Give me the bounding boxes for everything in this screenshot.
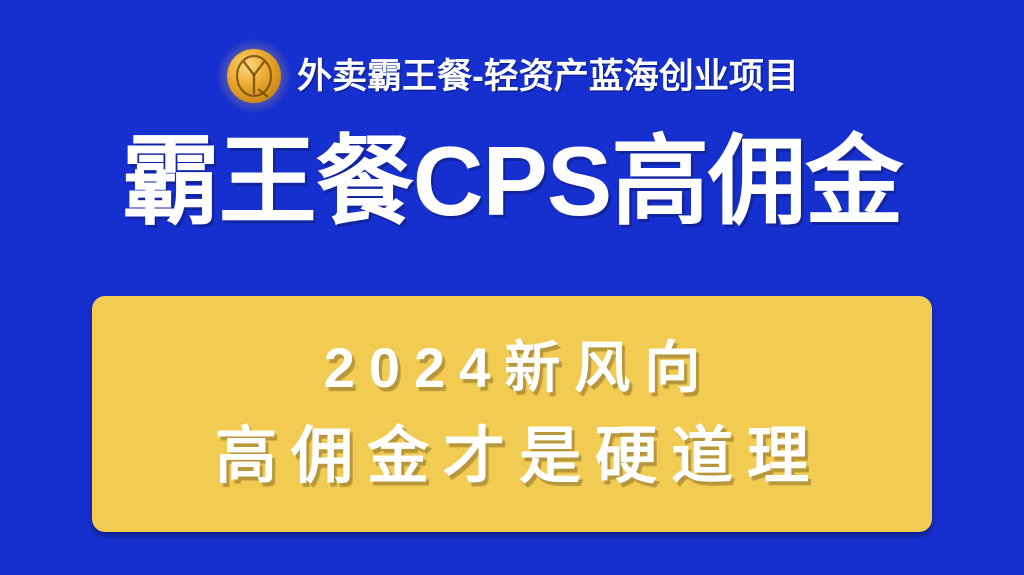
golden-circle-qy-monogram-logo xyxy=(225,47,283,105)
callout-panel: 2024新风向 高佣金才是硬道理 xyxy=(92,296,932,532)
page-title: 霸王餐CPS高佣金 xyxy=(0,132,1024,230)
callout-line-1: 2024新风向 xyxy=(310,340,715,396)
header-row: 外卖霸王餐-轻资产蓝海创业项目 xyxy=(0,40,1024,112)
brand-logo xyxy=(225,47,283,105)
callout-line-2: 高佣金才是硬道理 xyxy=(201,426,823,488)
header-subtitle: 外卖霸王餐-轻资产蓝海创业项目 xyxy=(297,59,799,94)
poster-canvas: 外卖霸王餐-轻资产蓝海创业项目 霸王餐CPS高佣金 2024新风向 高佣金才是硬… xyxy=(0,0,1024,575)
